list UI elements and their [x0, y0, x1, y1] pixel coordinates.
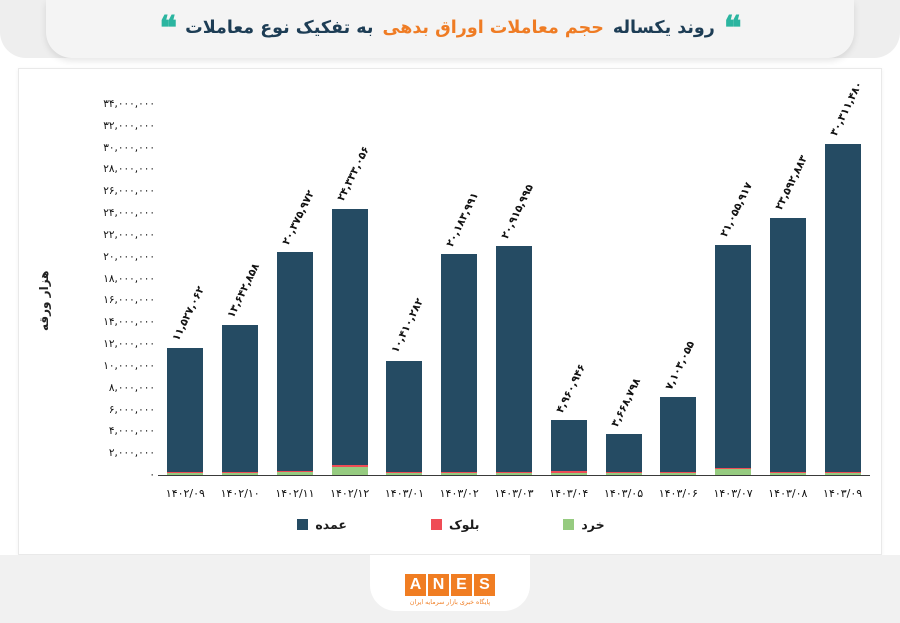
bar-stack	[825, 144, 861, 475]
bar-value-label: ۷,۱۰۳,۰۵۵	[664, 339, 698, 392]
sena-logo-letter: A	[405, 574, 426, 596]
bar-segment[interactable]	[167, 348, 203, 472]
y-axis-tick: ۳۴,۰۰۰,۰۰۰	[59, 98, 155, 110]
sena-logo-letter: N	[428, 574, 449, 596]
bar-column[interactable]: ۱۰,۴۱۰,۲۸۲	[386, 104, 422, 475]
y-axis-tick: ۳۰,۰۰۰,۰۰۰	[59, 142, 155, 154]
bar-column[interactable]: ۲۳,۵۹۲,۸۸۳	[770, 104, 806, 475]
bar-segment[interactable]	[606, 473, 642, 475]
bar-column[interactable]: ۷,۱۰۳,۰۵۵	[660, 104, 696, 475]
bar-segment[interactable]	[277, 472, 313, 475]
bar-segment[interactable]	[551, 420, 587, 471]
y-axis-tick: ۲۰,۰۰۰,۰۰۰	[59, 251, 155, 263]
bar-segment[interactable]	[715, 469, 751, 475]
y-axis-tick: ۴,۰۰۰,۰۰۰	[59, 425, 155, 437]
y-axis-tick: ۲۶,۰۰۰,۰۰۰	[59, 185, 155, 197]
bar-column[interactable]: ۱۱,۵۲۷,۰۶۲	[167, 104, 203, 475]
bar-segment[interactable]	[441, 254, 477, 472]
y-axis-tick: ۶,۰۰۰,۰۰۰	[59, 404, 155, 416]
bar-stack	[277, 252, 313, 475]
bar-segment[interactable]	[715, 245, 751, 468]
bar-segment[interactable]	[660, 473, 696, 475]
bar-stack	[222, 325, 258, 475]
legend-label: بلوک	[449, 517, 479, 532]
legend-item[interactable]: عمده	[297, 517, 347, 532]
sena-logo: SENA پایگاه خبری بازار سرمایه ایران	[405, 572, 495, 606]
bar-segment[interactable]	[386, 473, 422, 475]
bar-segment[interactable]	[222, 325, 258, 472]
sena-logo-letter: S	[474, 574, 495, 596]
y-axis-tick: ۸,۰۰۰,۰۰۰	[59, 382, 155, 394]
y-axis-tick: ۲۴,۰۰۰,۰۰۰	[59, 207, 155, 219]
bar-value-label: ۲۱,۰۵۵,۹۱۷	[718, 181, 755, 240]
bar-segment[interactable]	[825, 473, 861, 475]
quote-open-icon: ❝	[724, 19, 741, 37]
bar-column[interactable]: ۲۰,۱۸۳,۹۹۱	[441, 104, 477, 475]
bar-value-label: ۳۰,۳۱۱,۴۸۰	[828, 80, 865, 139]
legend-item[interactable]: بلوک	[431, 517, 479, 532]
y-axis-tick: ۱۲,۰۰۰,۰۰۰	[59, 338, 155, 350]
bar-segment[interactable]	[770, 218, 806, 472]
bar-segment[interactable]	[167, 473, 203, 475]
bar-segment[interactable]	[496, 246, 532, 471]
sena-logo-letter: E	[451, 574, 472, 596]
bar-value-label: ۱۳,۶۴۲,۸۵۸	[225, 262, 262, 321]
bar-value-label: ۳,۶۶۸,۷۹۸	[609, 376, 643, 429]
y-axis-tick: ۳۲,۰۰۰,۰۰۰	[59, 120, 155, 132]
bar-stack	[551, 420, 587, 475]
bar-column[interactable]: ۴,۹۶۰,۹۴۶	[551, 104, 587, 475]
bar-stack	[386, 361, 422, 475]
chart-page: ❝ روند یکساله حجم معاملات اوراق بدهی به …	[0, 0, 900, 623]
bar-segment[interactable]	[496, 473, 532, 475]
bar-stack	[606, 434, 642, 475]
bar-segment[interactable]	[825, 144, 861, 472]
bar-value-label: ۲۴,۳۳۳,۰۵۶	[335, 145, 372, 204]
chart-card: هزار ورقه ۰۲,۰۰۰,۰۰۰۴,۰۰۰,۰۰۰۶,۰۰۰,۰۰۰۸,…	[18, 68, 882, 555]
bar-value-label: ۲۰,۱۸۳,۹۹۱	[444, 190, 481, 249]
bar-value-label: ۱۰,۴۱۰,۲۸۲	[390, 297, 427, 356]
y-axis-title: هزار ورقه	[33, 241, 55, 361]
y-axis-tick: ۱۶,۰۰۰,۰۰۰	[59, 294, 155, 306]
bar-stack	[660, 397, 696, 475]
bar-column[interactable]: ۲۰,۹۱۵,۹۹۵	[496, 104, 532, 475]
y-axis-tick: ۱۰,۰۰۰,۰۰۰	[59, 360, 155, 372]
bar-stack	[770, 218, 806, 475]
bar-segment[interactable]	[332, 209, 368, 465]
bar-segment[interactable]	[660, 397, 696, 472]
bar-column[interactable]: ۳۰,۳۱۱,۴۸۰	[825, 104, 861, 475]
bar-segment[interactable]	[770, 473, 806, 475]
title-segment-breakdown: به تفکیک نوع معاملات	[185, 18, 373, 38]
y-axis-tick: ۱۸,۰۰۰,۰۰۰	[59, 273, 155, 285]
quote-close-icon: ❝	[159, 19, 176, 37]
page-title: ❝ روند یکساله حجم معاملات اوراق بدهی به …	[159, 18, 740, 40]
bar-column[interactable]: ۲۴,۳۳۳,۰۵۶	[332, 104, 368, 475]
bar-stack	[496, 246, 532, 475]
chart-plot-area: هزار ورقه ۰۲,۰۰۰,۰۰۰۴,۰۰۰,۰۰۰۶,۰۰۰,۰۰۰۸,…	[19, 69, 883, 556]
legend-swatch-icon	[431, 519, 442, 530]
bar-segment[interactable]	[386, 361, 422, 472]
footer-bar: SENA پایگاه خبری بازار سرمایه ایران	[0, 555, 900, 623]
chart-legend: خردبلوکعمده	[19, 517, 883, 532]
y-axis-tick: ۱۴,۰۰۰,۰۰۰	[59, 316, 155, 328]
bar-segment[interactable]	[332, 467, 368, 475]
bar-segment[interactable]	[606, 434, 642, 472]
bar-stack	[332, 209, 368, 475]
bar-segment[interactable]	[441, 473, 477, 475]
bar-segment[interactable]	[222, 473, 258, 475]
x-axis-tick-labels: ۱۴۰۲/۰۹۱۴۰۲/۱۰۱۴۰۲/۱۱۱۴۰۲/۱۲۱۴۰۳/۰۱۱۴۰۳/…	[158, 481, 870, 521]
legend-label: خرد	[581, 517, 604, 532]
legend-swatch-icon	[297, 519, 308, 530]
bar-column[interactable]: ۲۱,۰۵۵,۹۱۷	[715, 104, 751, 475]
sena-logo-letters: SENA	[405, 574, 495, 596]
bar-stack	[715, 245, 751, 475]
y-axis-tick: ۲,۰۰۰,۰۰۰	[59, 447, 155, 459]
title-banner: ❝ روند یکساله حجم معاملات اوراق بدهی به …	[0, 0, 900, 58]
bar-segment[interactable]	[551, 473, 587, 475]
bar-column[interactable]: ۲۰,۳۷۵,۹۷۲	[277, 104, 313, 475]
bar-stack	[167, 348, 203, 475]
title-segment-subject: حجم معاملات اوراق بدهی	[382, 18, 603, 38]
x-axis-line	[158, 475, 870, 476]
legend-item[interactable]: خرد	[563, 517, 604, 532]
y-axis-tick: ۲۲,۰۰۰,۰۰۰	[59, 229, 155, 241]
legend-swatch-icon	[563, 519, 574, 530]
x-axis-tick: ۱۴۰۳/۰۹	[808, 487, 878, 500]
y-axis-tick: ۰	[59, 469, 155, 481]
bar-value-label: ۲۳,۵۹۲,۸۸۳	[773, 153, 810, 212]
bar-value-label: ۲۰,۹۱۵,۹۹۵	[499, 182, 536, 241]
bar-segment[interactable]	[277, 252, 313, 471]
bar-stack	[441, 254, 477, 475]
bars-container: ۱۱,۵۲۷,۰۶۲۱۳,۶۴۲,۸۵۸۲۰,۳۷۵,۹۷۲۲۴,۳۳۳,۰۵۶…	[158, 104, 870, 475]
sena-logo-subtitle: پایگاه خبری بازار سرمایه ایران	[410, 599, 490, 606]
y-axis-tick-labels: ۰۲,۰۰۰,۰۰۰۴,۰۰۰,۰۰۰۶,۰۰۰,۰۰۰۸,۰۰۰,۰۰۰۱۰,…	[59, 69, 155, 556]
title-segment-trend: روند یکساله	[613, 18, 715, 38]
bar-value-label: ۲۰,۳۷۵,۹۷۲	[280, 188, 317, 247]
bar-column[interactable]: ۳,۶۶۸,۷۹۸	[606, 104, 642, 475]
bar-column[interactable]: ۱۳,۶۴۲,۸۵۸	[222, 104, 258, 475]
legend-label: عمده	[315, 517, 347, 532]
bar-value-label: ۴,۹۶۰,۹۴۶	[554, 362, 588, 415]
bar-value-label: ۱۱,۵۲۷,۰۶۲	[171, 285, 208, 344]
y-axis-tick: ۲۸,۰۰۰,۰۰۰	[59, 163, 155, 175]
